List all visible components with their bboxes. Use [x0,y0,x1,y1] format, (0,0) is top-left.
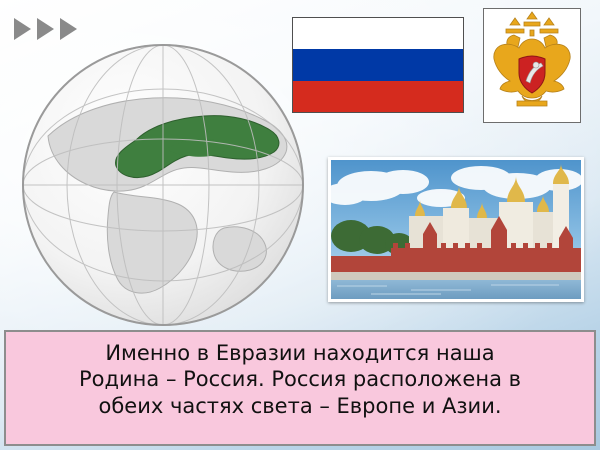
coat-of-arms-svg [484,9,580,122]
caption-box: Именно в Евразии находится наша Родина –… [4,330,596,446]
kremlin-photo-svg [331,160,581,299]
russia-flag [292,17,464,113]
flag-band-red [293,81,463,112]
kremlin-photo [328,157,584,302]
flag-band-white [293,18,463,49]
russia-coat-of-arms [483,8,581,123]
caption-text: Именно в Евразии находится наша Родина –… [6,340,594,419]
globe-svg [18,40,308,330]
decorative-arrows [14,18,77,40]
globe-illustration [18,40,308,330]
arrow-right-icon-2 [37,18,54,40]
slide-canvas: Именно в Евразии находится наша Родина –… [0,0,600,450]
arrow-right-icon-3 [60,18,77,40]
flag-band-blue [293,49,463,80]
arrow-right-icon-1 [14,18,31,40]
